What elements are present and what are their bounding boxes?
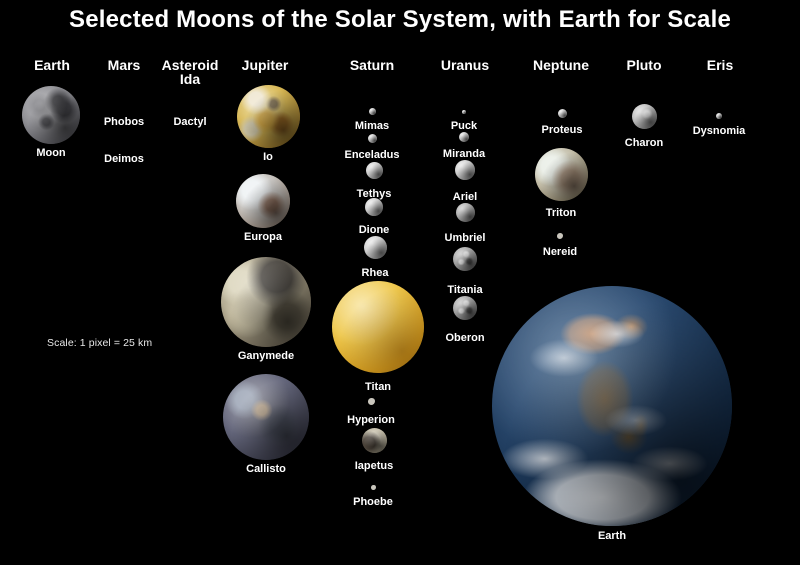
- moon-label-proteus: Proteus: [492, 124, 632, 136]
- moon-label-phoebe: Phoebe: [303, 496, 443, 508]
- earth-figure: [492, 286, 732, 526]
- moon-disc-europa: [236, 174, 290, 228]
- planet-column-header-eris: Eris: [650, 58, 790, 72]
- moon-label-iapetus: Iapetus: [304, 460, 444, 472]
- moon-disc-dione: [365, 198, 383, 216]
- moon-disc-io: [237, 85, 300, 148]
- moon-disc-ganymede: [221, 257, 311, 347]
- moon-disc-rhea: [364, 236, 387, 259]
- moon-label-miranda: Miranda: [394, 148, 534, 160]
- moon-disc-triton: [535, 148, 588, 201]
- moon-label-triton: Triton: [491, 207, 631, 219]
- earth-globe: [492, 286, 732, 526]
- moon-disc-umbriel: [456, 203, 475, 222]
- moon-disc-enceladus: [368, 134, 377, 143]
- moon-disc-dysnomia: [716, 113, 722, 119]
- moon-disc-miranda: [459, 132, 469, 142]
- moon-disc-mimas: [369, 108, 376, 115]
- moon-disc-phoebe: [371, 485, 376, 490]
- moon-disc-ariel: [455, 160, 475, 180]
- moon-label-ariel: Ariel: [395, 191, 535, 203]
- page-title: Selected Moons of the Solar System, with…: [0, 6, 800, 34]
- moon-disc-hyperion: [368, 398, 375, 405]
- moon-label-deimos: Deimos: [54, 153, 194, 165]
- moon-disc-tethys: [366, 162, 383, 179]
- moon-disc-iapetus: [362, 428, 387, 453]
- moon-label-umbriel: Umbriel: [395, 232, 535, 244]
- moon-label-dysnomia: Dysnomia: [649, 125, 789, 137]
- moon-disc-titania: [453, 247, 477, 271]
- earth-label: Earth: [542, 530, 682, 542]
- moon-disc-oberon: [453, 296, 477, 320]
- moon-disc-callisto: [223, 374, 309, 460]
- moon-disc-puck: [462, 110, 466, 114]
- moon-label-charon: Charon: [574, 137, 714, 149]
- moon-label-ganymede: Ganymede: [196, 350, 336, 362]
- poster-canvas: Selected Moons of the Solar System, with…: [0, 0, 800, 565]
- moon-disc-proteus: [558, 109, 567, 118]
- moon-disc-moon: [22, 86, 80, 144]
- scale-note: Scale: 1 pixel = 25 km: [47, 337, 152, 349]
- moon-disc-nereid: [557, 233, 563, 239]
- moon-label-nereid: Nereid: [490, 246, 630, 258]
- moon-label-rhea: Rhea: [305, 267, 445, 279]
- moon-label-hyperion: Hyperion: [301, 414, 441, 426]
- moon-label-titan: Titan: [308, 381, 448, 393]
